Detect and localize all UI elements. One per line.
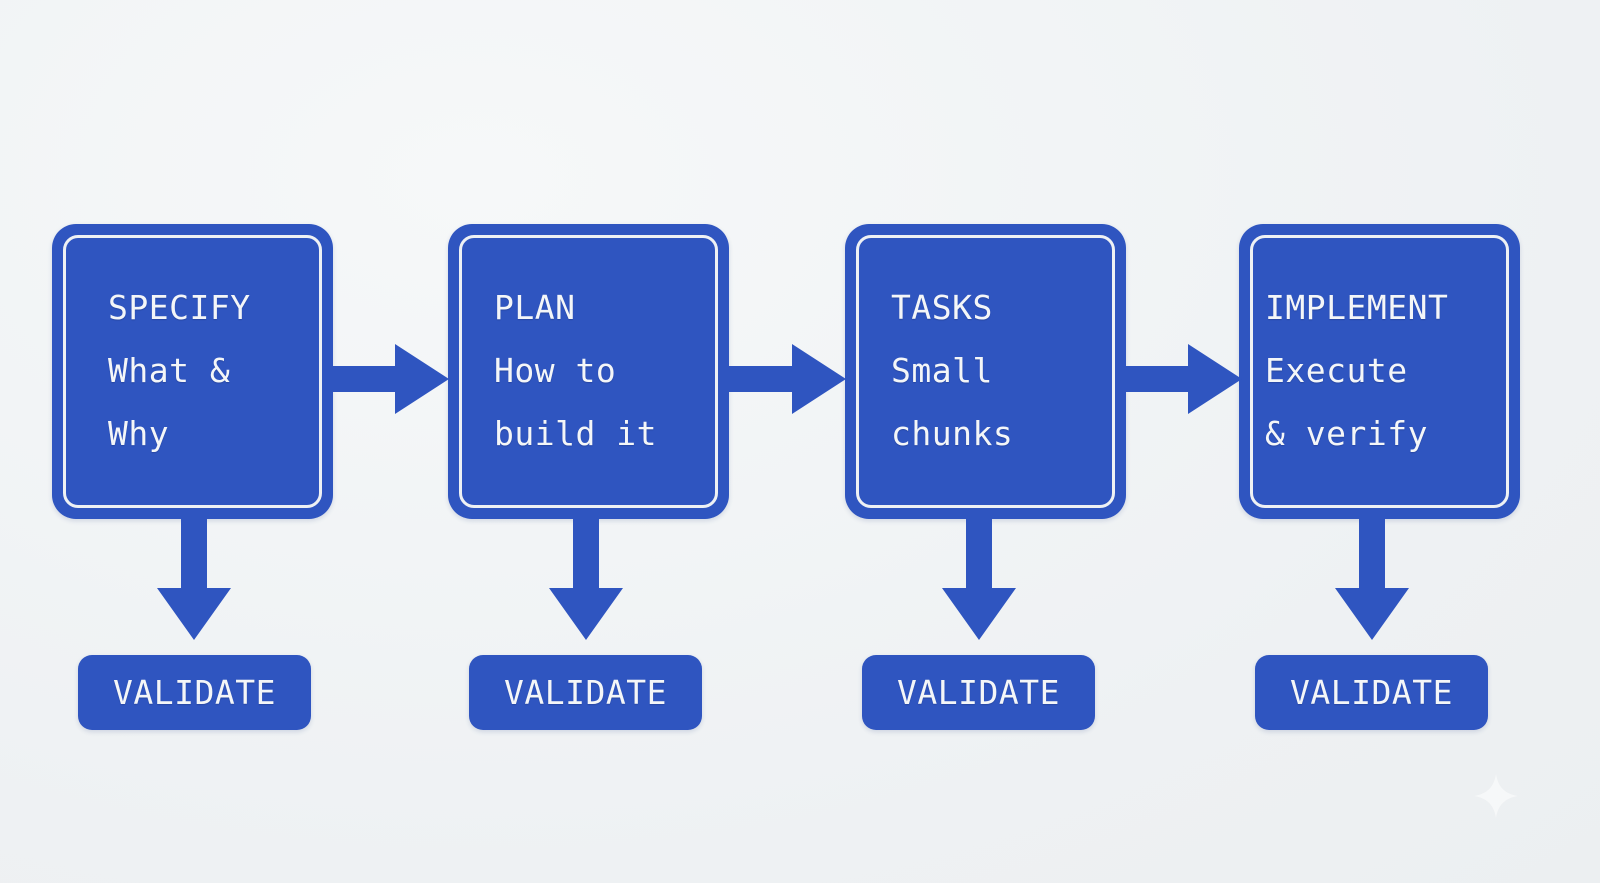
validate-label: VALIDATE <box>504 673 667 712</box>
stage-text-implement: IMPLEMENT Execute & verify <box>1265 276 1506 465</box>
arrow-right-icon <box>1124 340 1242 418</box>
stage-box-plan[interactable]: PLAN How to build it <box>448 224 729 519</box>
stage-title-implement: IMPLEMENT <box>1265 276 1506 339</box>
stage-title-specify: SPECIFY <box>108 276 319 339</box>
stage-title-tasks: TASKS <box>891 276 1112 339</box>
stage-line3-specify: Why <box>108 402 319 465</box>
stage-line2-plan: How to <box>494 339 715 402</box>
arrow-right-icon <box>728 340 846 418</box>
validate-box-specify[interactable]: VALIDATE <box>78 655 311 730</box>
arrow-right-icon <box>331 340 449 418</box>
stage-text-tasks: TASKS Small chunks <box>891 276 1112 465</box>
arrow-down-icon <box>153 518 235 640</box>
validate-label: VALIDATE <box>113 673 276 712</box>
arrow-down-icon <box>1331 518 1413 640</box>
stage-text-plan: PLAN How to build it <box>494 276 715 465</box>
validate-box-tasks[interactable]: VALIDATE <box>862 655 1095 730</box>
stage-line3-tasks: chunks <box>891 402 1112 465</box>
validate-box-implement[interactable]: VALIDATE <box>1255 655 1488 730</box>
validate-label: VALIDATE <box>1290 673 1453 712</box>
stage-title-plan: PLAN <box>494 276 715 339</box>
arrow-down-icon <box>938 518 1020 640</box>
validate-label: VALIDATE <box>897 673 1060 712</box>
sparkle-icon <box>1472 772 1520 820</box>
stage-line2-tasks: Small <box>891 339 1112 402</box>
stage-box-specify[interactable]: SPECIFY What & Why <box>52 224 333 519</box>
validate-box-plan[interactable]: VALIDATE <box>469 655 702 730</box>
stage-text-specify: SPECIFY What & Why <box>108 276 319 465</box>
stage-line3-implement: & verify <box>1265 402 1506 465</box>
stage-line3-plan: build it <box>494 402 715 465</box>
stage-box-tasks[interactable]: TASKS Small chunks <box>845 224 1126 519</box>
arrow-down-icon <box>545 518 627 640</box>
stage-box-implement[interactable]: IMPLEMENT Execute & verify <box>1239 224 1520 519</box>
stage-line2-specify: What & <box>108 339 319 402</box>
stage-line2-implement: Execute <box>1265 339 1506 402</box>
diagram-canvas: SPECIFY What & Why PLAN How to build it … <box>0 0 1600 883</box>
